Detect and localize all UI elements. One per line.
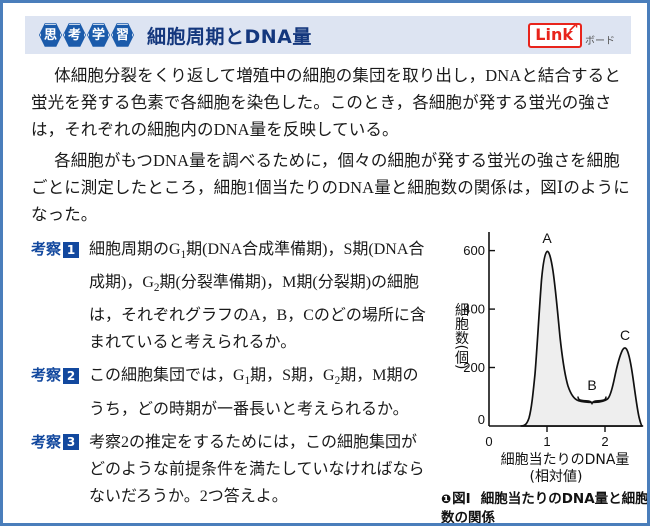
badge-hex-1: 思: [39, 23, 62, 48]
chart-x-ticks: 1 2 0: [485, 426, 608, 449]
paragraph-2: 各細胞がもつDNA量を調べるために，個々の細胞が発する蛍光の強さを細胞ごとに測定…: [25, 147, 637, 228]
badge-char-1: 思: [44, 29, 57, 42]
question-number-1: 1: [63, 242, 79, 258]
question-item-2: 考察 2 この細胞集団では，G1期，S期，G2期，M期のうち，どの時期が一番長い…: [31, 362, 431, 422]
badge-hex-3: 学: [87, 23, 110, 48]
q2-part-2: 期，S期，G: [250, 367, 334, 384]
x-tick-2: 2: [601, 434, 608, 449]
question-text-1: 細胞周期のG1期(DNA合成準備期)，S期(DNA合成期)，G2期(分裂準備期)…: [89, 236, 431, 356]
y-tick-600: 600: [463, 243, 485, 258]
x-tick-0: 0: [485, 434, 492, 449]
question-label-2: 考察 2: [31, 362, 79, 389]
question-label-text-3: 考察: [31, 429, 61, 456]
question-label-text-2: 考察: [31, 362, 61, 389]
y-tick-0: 0: [478, 412, 485, 427]
x-tick-1: 1: [543, 434, 550, 449]
chart-ylabel: 細胞数(個): [453, 303, 469, 370]
question-list: 考察 1 細胞周期のG1期(DNA合成準備期)，S期(DNA合成期)，G2期(分…: [31, 236, 431, 516]
arrow-up-right-icon: ↗: [567, 21, 579, 35]
question-text-2: この細胞集団では，G1期，S期，G2期，M期のうち，どの時期が一番長いと考えられ…: [89, 362, 431, 422]
question-label-text-1: 考察: [31, 236, 61, 263]
annotation-B: B: [587, 377, 596, 393]
link-sub-label: ボード: [585, 32, 615, 47]
q2-part-0: この細胞集団では，G: [89, 367, 245, 384]
annotation-C: C: [620, 327, 630, 343]
page-inner: 思 考 学 習 細胞周期とDNA量 Link ↗ ボード 体細胞分裂をくり返して…: [12, 12, 644, 520]
question-item-1: 考察 1 細胞周期のG1期(DNA合成準備期)，S期(DNA合成期)，G2期(分…: [31, 236, 431, 356]
badge-char-2: 考: [68, 29, 81, 42]
page-title: 細胞周期とDNA量: [147, 22, 312, 49]
badge-char-4: 習: [116, 29, 129, 42]
question-number-2: 2: [63, 368, 79, 384]
figure-caption: ❶図Ⅰ細胞当たりのDNA量と細胞数の関係: [441, 490, 650, 526]
paragraph-1: 体細胞分裂をくり返して増殖中の細胞の集団を取り出し，DNAと結合すると蛍光を発す…: [25, 62, 637, 143]
dna-histogram-chart: 600 400 200 0 1 2: [437, 218, 650, 468]
badge-hex-2: 考: [63, 23, 86, 48]
q1-part-0: 細胞周期のG: [89, 241, 181, 258]
question-label-1: 考察 1: [31, 236, 79, 263]
caption-text: 細胞当たりのDNA量と細胞数の関係: [441, 491, 649, 526]
caption-marker-icon: ❶: [441, 492, 451, 506]
question-number-3: 3: [63, 434, 79, 450]
caption-figure-name: 図Ⅰ: [452, 491, 471, 507]
question-item-3: 考察 3 考察2の推定をするためには，この細胞集団がどのような前提条件を満たして…: [31, 429, 431, 510]
figure-block: 600 400 200 0 1 2: [437, 218, 650, 526]
question-text-3: 考察2の推定をするためには，この細胞集団がどのような前提条件を満たしていなければ…: [89, 429, 431, 510]
question-label-3: 考察 3: [31, 429, 79, 456]
textbook-page: 思 考 学 習 細胞周期とDNA量 Link ↗ ボード 体細胞分裂をくり返して…: [0, 0, 650, 526]
link-box[interactable]: Link ↗: [528, 23, 582, 48]
badge-hex-4: 習: [111, 23, 134, 48]
chart-xlabel-sub: (相対値): [457, 466, 650, 486]
section-header: 思 考 学 習 細胞周期とDNA量 Link ↗ ボード: [25, 16, 631, 54]
link-board-button[interactable]: Link ↗ ボード: [528, 23, 615, 48]
content-area: 体細胞分裂をくり返して増殖中の細胞の集団を取り出し，DNAと結合すると蛍光を発す…: [25, 62, 631, 512]
thinking-study-badge: 思 考 学 習: [39, 23, 134, 48]
badge-char-3: 学: [92, 29, 105, 42]
annotation-A: A: [542, 230, 552, 246]
